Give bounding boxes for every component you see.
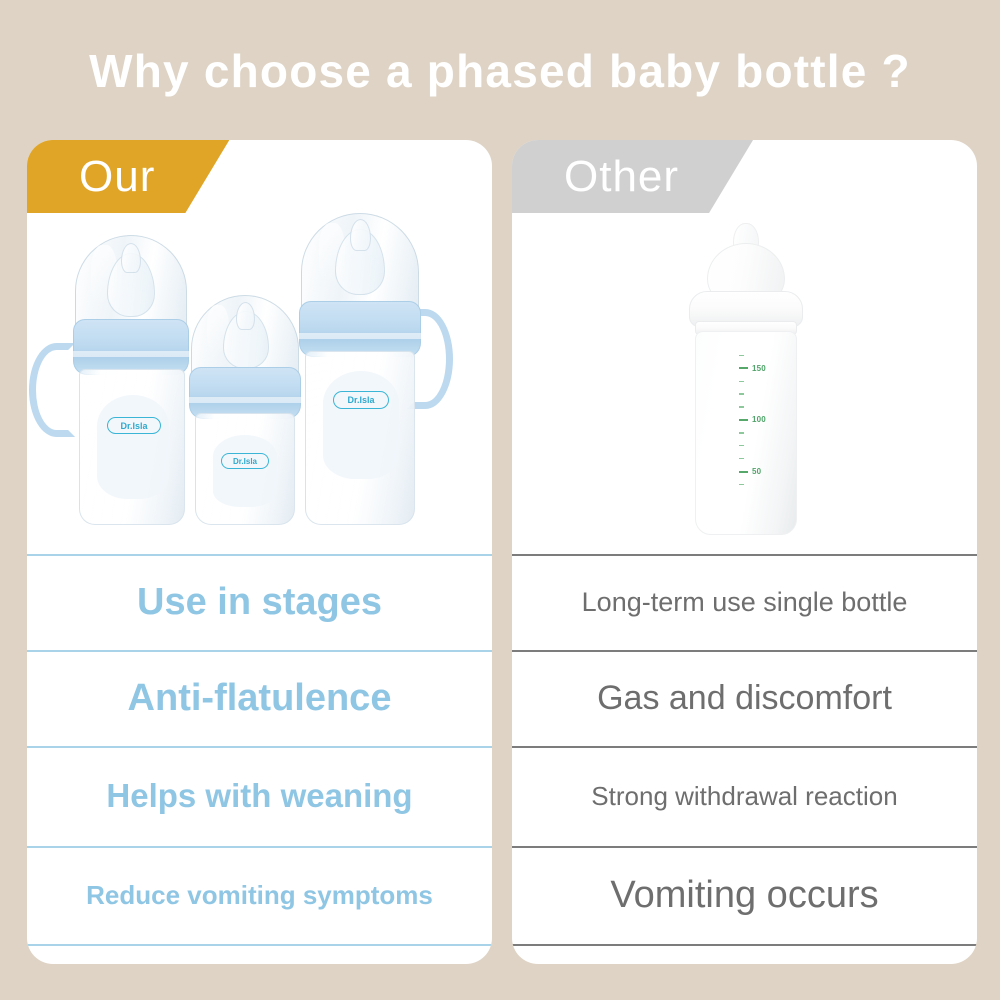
scale-tick-minor (739, 351, 779, 360)
bottle-group-three-phase: Dr.Isla Dr.Isla (27, 213, 492, 554)
feature-row: Strong withdrawal reaction (512, 746, 977, 846)
measurement-scale: 150 100 (739, 351, 779, 489)
badge-other-label: Other (564, 153, 679, 201)
collar-band (299, 333, 421, 339)
tick-icon (739, 419, 748, 421)
feature-list-other: Long-term use single bottle Gas and disc… (512, 554, 977, 964)
tick-icon (739, 458, 744, 460)
tick-icon (739, 381, 744, 383)
scale-tick-minor (739, 441, 779, 450)
page-title: Why choose a phased baby bottle ? (0, 40, 1000, 102)
feature-list-our: Use in stages Anti-flatulence Helps with… (27, 554, 492, 964)
feature-label: Strong withdrawal reaction (591, 781, 897, 812)
scale-tick-minor (739, 480, 779, 489)
bottle-nipple-tip (121, 243, 141, 273)
brand-label: Dr.Isla (107, 417, 161, 434)
feature-label: Reduce vomiting symptoms (86, 880, 433, 911)
scale-tick-minor (739, 377, 779, 386)
bottle-large: Dr.Isla (285, 213, 447, 525)
scale-tick-minor (739, 428, 779, 437)
scale-value: 100 (752, 415, 766, 424)
bottle-nipple-tip (236, 302, 255, 330)
feature-row: Long-term use single bottle (512, 554, 977, 650)
scale-value: 50 (752, 467, 761, 476)
feature-row: Helps with weaning (27, 746, 492, 846)
tick-icon (739, 355, 744, 357)
comparison-card-our: Our (27, 140, 492, 964)
feature-label: Helps with weaning (106, 777, 412, 815)
bottle-label-panel (323, 371, 399, 479)
feature-row: Vomiting occurs (512, 846, 977, 944)
bottle-nipple-tip (350, 219, 371, 251)
feature-divider (512, 944, 977, 946)
scale-tick-major: 150 (739, 364, 779, 373)
feature-row: Reduce vomiting symptoms (27, 846, 492, 944)
tick-icon (739, 471, 748, 473)
feature-row: Use in stages (27, 554, 492, 650)
scale-value: 150 (752, 364, 766, 373)
feature-row: Anti-flatulence (27, 650, 492, 746)
infographic-page: Why choose a phased baby bottle ? Our (0, 0, 1000, 1000)
feature-label: Use in stages (137, 581, 382, 624)
tick-icon (739, 432, 744, 434)
product-image-other: 150 100 (512, 213, 977, 554)
tick-icon (739, 445, 744, 447)
bottle-group-single: 150 100 (512, 213, 977, 554)
scale-tick-minor (739, 454, 779, 463)
scale-tick-major: 100 (739, 415, 779, 424)
bottle-label-panel (213, 435, 277, 507)
bottle-label-panel (97, 395, 169, 499)
feature-divider (27, 944, 492, 946)
comparison-card-other: Other (512, 140, 977, 964)
scale-tick-minor (739, 403, 779, 412)
brand-label: Dr.Isla (333, 391, 389, 409)
bottle-collar (299, 301, 421, 357)
brand-label: Dr.Isla (221, 453, 269, 469)
feature-row: Gas and discomfort (512, 650, 977, 746)
tick-icon (739, 484, 744, 486)
feature-label: Anti-flatulence (128, 677, 392, 720)
scale-tick-minor (739, 390, 779, 399)
feature-label: Vomiting occurs (610, 874, 878, 917)
collar-band (73, 351, 189, 357)
tick-icon (739, 367, 748, 369)
bottle-plain-white: 150 100 (677, 223, 813, 535)
badge-other: Other (512, 140, 753, 213)
tick-icon (739, 406, 744, 408)
bottle-handle-left (29, 343, 75, 437)
feature-label: Gas and discomfort (597, 679, 892, 718)
scale-tick-major: 50 (739, 467, 779, 476)
product-image-our: Dr.Isla Dr.Isla (27, 213, 492, 554)
body-highlight (707, 347, 725, 467)
badge-our: Our (27, 140, 229, 213)
bottle-collar (73, 319, 189, 375)
tick-icon (739, 393, 744, 395)
badge-our-label: Our (79, 153, 155, 201)
feature-label: Long-term use single bottle (582, 587, 908, 618)
